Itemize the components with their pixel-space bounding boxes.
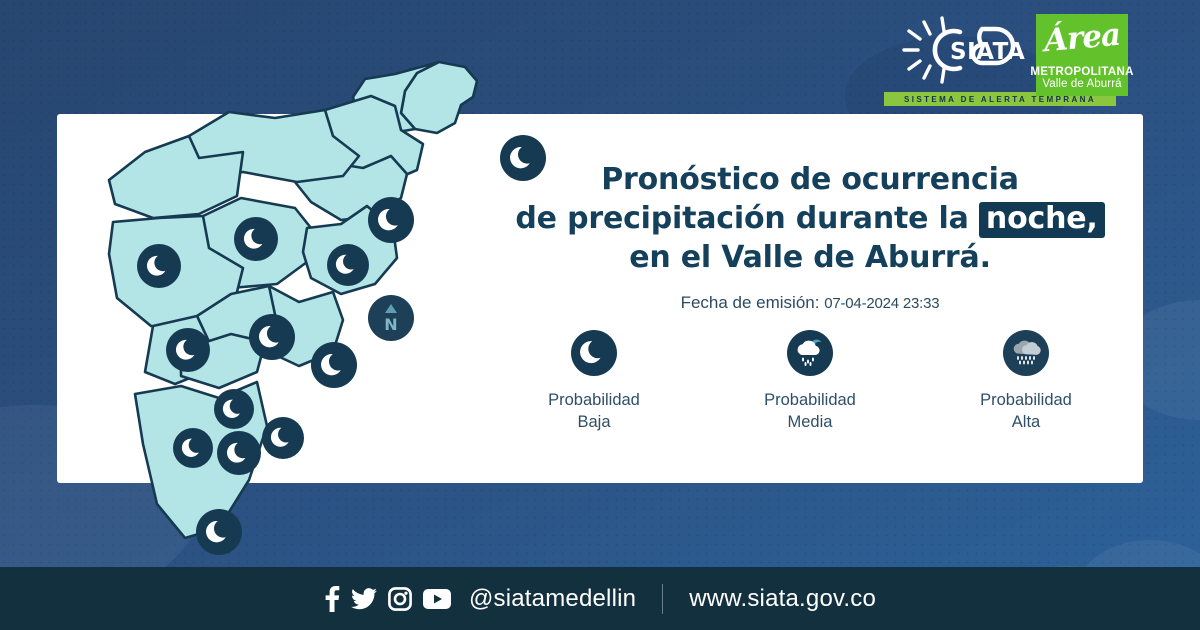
map-marker-bello [249, 314, 295, 360]
cloud-moon-rain-icon [787, 330, 833, 376]
moon-glyph [181, 436, 206, 461]
map-marker-medellin [166, 328, 210, 372]
headline-highlight-noche: noche, [979, 202, 1105, 238]
area-line2: Valle de Aburrá [1042, 78, 1121, 91]
cloud-heavy-rain-glyph [1009, 338, 1043, 368]
compass-label: N [384, 315, 397, 333]
map-marker-envigado [262, 417, 304, 459]
moon-glyph [243, 226, 270, 253]
moon-glyph [258, 323, 287, 352]
valle-de-aburra-map: N [57, 40, 487, 580]
twitter-icon[interactable] [351, 588, 377, 610]
moon-icon [217, 431, 261, 475]
infographic-canvas: SIATA SISTEMA DE ALERTA TEMPRANA Área ME… [0, 0, 1200, 630]
legend-baja-line2: Baja [577, 411, 610, 433]
legend-media-line2: Media [788, 411, 833, 433]
map-marker-copacabana [327, 244, 369, 286]
legend-alta-line2: Alta [1012, 411, 1040, 433]
area-script-text: Área [1035, 16, 1130, 60]
cloud-heavy-rain-icon [1003, 330, 1049, 376]
moon-icon [327, 244, 369, 286]
logo-group: SIATA SISTEMA DE ALERTA TEMPRANA Área ME… [898, 14, 1128, 96]
emission-value: 07-04-2024 23:33 [824, 295, 939, 312]
moon-glyph [579, 338, 609, 368]
emission-date-row: Fecha de emisión: 07-04-2024 23:33 [480, 293, 1140, 313]
moon-glyph [175, 337, 202, 364]
moon-glyph [226, 440, 253, 467]
map-marker-girardota [368, 197, 414, 243]
siata-logo: SIATA SISTEMA DE ALERTA TEMPRANA [898, 14, 1028, 90]
youtube-icon[interactable] [423, 589, 451, 609]
legend-media-line1: Probabilidad [764, 389, 856, 411]
moon-glyph [270, 425, 296, 451]
headline-block: Pronóstico de ocurrencia de precipitació… [480, 160, 1140, 313]
facebook-icon[interactable] [324, 586, 340, 612]
moon-icon [311, 342, 357, 388]
moon-glyph [205, 518, 234, 547]
map-marker-guarne [311, 342, 357, 388]
moon-glyph [320, 351, 349, 380]
siata-sun-cloud-icon: SIATA [898, 14, 1028, 90]
moon-icon [368, 197, 414, 243]
map-municipalities [57, 40, 487, 580]
headline-line-2: de precipitación durante la noche, [480, 199, 1140, 238]
legend-item-media: Probabilidad Media [720, 330, 900, 434]
moon-glyph [335, 252, 361, 278]
map-marker-sabaneta [173, 428, 213, 468]
moon-glyph [222, 397, 247, 422]
footer-bar: @siatamedellin www.siata.gov.co [0, 567, 1200, 630]
moon-icon [249, 314, 295, 360]
social-icon-group [324, 586, 451, 612]
footer-divider [662, 584, 663, 614]
map-marker-san-pedro [234, 217, 278, 261]
map-marker-caldas [196, 509, 242, 555]
probability-legend: Probabilidad Baja Probabilidad [486, 330, 1134, 434]
social-handle[interactable]: @siatamedellin [469, 585, 636, 613]
cloud-moon-rain-glyph [793, 338, 827, 368]
headline-line-1: Pronóstico de ocurrencia [480, 160, 1140, 199]
legend-item-alta: Probabilidad Alta [936, 330, 1116, 434]
legend-baja-line1: Probabilidad [548, 389, 640, 411]
moon-icon [234, 217, 278, 261]
map-marker-belmira [137, 244, 181, 288]
legend-alta-line1: Probabilidad [980, 389, 1072, 411]
area-line1: METROPOLITANA [1030, 66, 1133, 78]
website-url[interactable]: www.siata.gov.co [689, 585, 876, 613]
map-marker-la-estrella [217, 431, 261, 475]
moon-icon [137, 244, 181, 288]
compass-north-badge: N [368, 295, 414, 341]
moon-icon [166, 328, 210, 372]
svg-text:SIATA: SIATA [950, 39, 1025, 65]
moon-glyph [146, 253, 173, 280]
moon-icon [196, 509, 242, 555]
headline-line-3: en el Valle de Aburrá. [480, 238, 1140, 277]
moon-icon [214, 389, 254, 429]
headline-line-2-prefix: de precipitación durante la [515, 201, 979, 236]
legend-item-baja: Probabilidad Baja [504, 330, 684, 434]
moon-icon [262, 417, 304, 459]
compass-north-icon: N [379, 303, 403, 333]
instagram-icon[interactable] [388, 587, 412, 611]
area-metropolitana-logo: Área METROPOLITANA Valle de Aburrá [1036, 14, 1128, 96]
moon-icon [571, 330, 617, 376]
emission-label: Fecha de emisión: [681, 293, 820, 312]
map-marker-itagui [214, 389, 254, 429]
moon-icon [173, 428, 213, 468]
moon-glyph [377, 206, 406, 235]
